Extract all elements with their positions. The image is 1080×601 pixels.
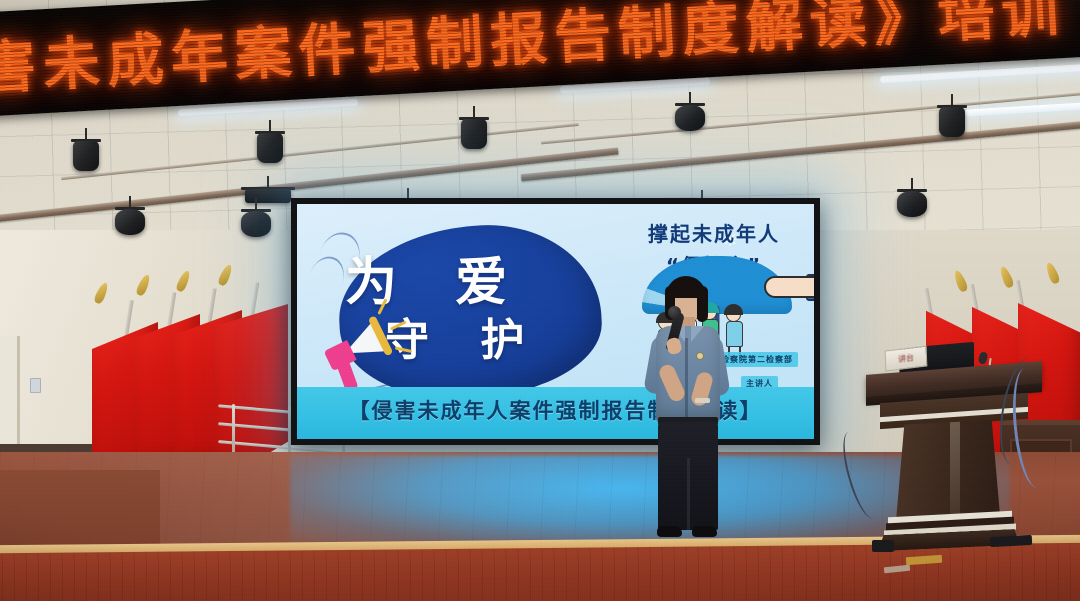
presenter-shoe-left [657,526,682,537]
lectern-plaque-text: 讲台 [898,352,914,365]
presenter-hair-right [697,286,708,322]
lamp-body [115,209,145,235]
photo-scene: 为 爱 守 护 ✳ 撑起未成年人 “保护伞” [0,0,1080,601]
floor-equipment [872,540,894,552]
stage-floor-left [0,470,160,550]
slide-footer-title: 【侵害未成年人案件强制报告制度解读】 [297,395,814,425]
lamp-body [241,211,271,237]
railing-post [232,404,235,456]
lamp-body [897,191,927,217]
presentation-slide: 为 爱 守 护 ✳ 撑起未成年人 “保护伞” [297,204,814,439]
lamp-body [939,107,965,137]
lamp-body [675,105,705,131]
lamp-body [245,189,291,203]
lectern-body-highlight [950,422,960,519]
wall-switch [30,378,41,393]
microphone-head [668,306,681,319]
presenter-badge [696,352,704,360]
presenter-shirt-placket [685,338,688,420]
presenter-collar-right [691,326,704,342]
led-display-screen: 为 爱 守 护 ✳ 撑起未成年人 “保护伞” [291,198,820,445]
slide-main-line-2: 守 护 [385,304,542,368]
presenter-pant-seam [687,458,690,530]
lamp-body [257,133,283,163]
hand-illustration [764,276,814,298]
presenter-watch [695,398,710,403]
lectern-mic-head [978,351,989,365]
presenter-shoe-right [692,526,717,537]
lamp-body [461,119,487,149]
lamp-body [73,141,99,171]
slide-headline-line-1: 撑起未成年人 [648,218,780,247]
lectern-body [896,419,1000,521]
presenter-figure [640,276,736,546]
